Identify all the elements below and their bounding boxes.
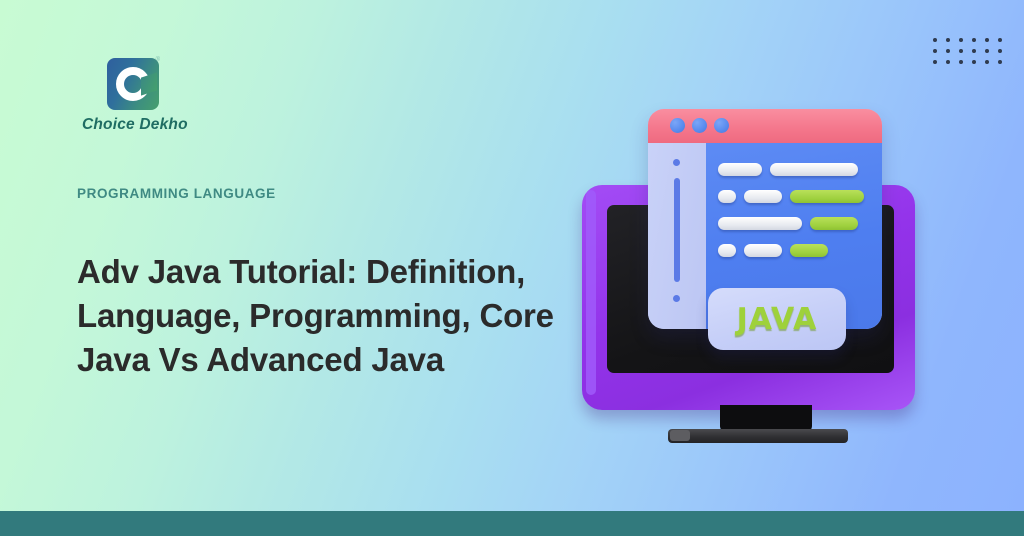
grid-dot [972,60,976,64]
dot-grid-decoration [933,38,1011,71]
code-line-row [718,190,870,203]
grid-dot [946,49,950,53]
grid-dot [933,49,937,53]
monitor-stand-neck [720,405,812,432]
code-line-bar-white [744,190,782,203]
code-line-bar-white [744,244,782,257]
choice-dekho-logo-icon: ® [107,58,159,110]
code-line-bar-white [770,163,858,176]
window-dot-icon [692,118,707,133]
article-banner: ® Choice Dekho PROGRAMMING LANGUAGE Adv … [0,0,1024,536]
category-eyebrow: PROGRAMMING LANGUAGE [77,186,276,201]
grid-dot [998,49,1002,53]
browser-titlebar [648,109,882,143]
trademark-symbol: ® [156,57,160,63]
code-line-bar-green [790,190,864,203]
code-line-bar-white [718,163,762,176]
grid-dot [985,38,989,42]
grid-dot [972,49,976,53]
brand-name: Choice Dekho [82,116,262,134]
grid-dot [959,60,963,64]
sidebar-dot-icon [673,159,680,166]
java-illustration: JAVA [560,100,950,465]
grid-dot [933,60,937,64]
brand-logo[interactable]: ® Choice Dekho [82,58,262,134]
code-line-bar-white [718,217,802,230]
sidebar-dot-icon [673,295,680,302]
grid-dot [985,60,989,64]
code-line-bar-white [718,190,736,203]
code-line-row [718,244,870,257]
monitor-stand-base [668,429,848,443]
window-dot-icon [670,118,685,133]
grid-dot [959,49,963,53]
page-title: Adv Java Tutorial: Definition, Language,… [77,250,577,382]
grid-dot [959,38,963,42]
grid-dot [946,38,950,42]
browser-sidebar [648,143,706,329]
code-line-bar-green [790,244,828,257]
java-badge-label: JAVA [737,302,818,337]
grid-dot [972,38,976,42]
code-line-row [718,217,870,230]
code-line-bar-white [718,244,736,257]
window-dot-icon [714,118,729,133]
java-badge: JAVA [708,288,846,350]
grid-dot [998,38,1002,42]
grid-dot [933,38,937,42]
grid-dot [985,49,989,53]
grid-dot [946,60,950,64]
logo-c-notch [141,72,157,95]
footer-bar [0,511,1024,536]
code-line-bar-green [810,217,858,230]
grid-dot [998,60,1002,64]
code-line-row [718,163,870,176]
sidebar-scrollbar [674,178,680,282]
